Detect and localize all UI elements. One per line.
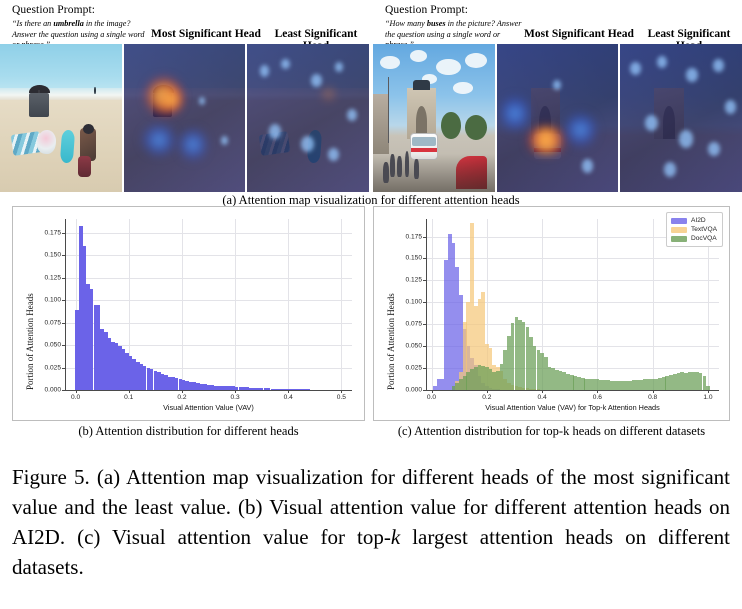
x-tick-mark bbox=[708, 390, 709, 393]
chart-c-topk-distribution: 0.0000.0250.0500.0750.1000.1250.1500.175… bbox=[373, 206, 730, 421]
x-tick-label: 0.2 bbox=[167, 394, 197, 401]
x-tick-label: 0.6 bbox=[582, 394, 612, 401]
x-tick-mark bbox=[487, 390, 488, 393]
y-tick-label: 0.150 bbox=[396, 255, 422, 262]
x-tick-mark bbox=[432, 390, 433, 393]
heat-speck-c bbox=[311, 74, 322, 87]
pedestrian-1 bbox=[390, 154, 395, 178]
heat-blob-left-bldg bbox=[502, 94, 529, 132]
most-significant-head-map-beach bbox=[124, 44, 246, 192]
panel-a-attention-maps: Question Prompt: “Is there an umbrella i… bbox=[0, 0, 742, 196]
gridline-v bbox=[653, 219, 654, 390]
x-tick-label: 0.2 bbox=[472, 394, 502, 401]
red-bag bbox=[78, 156, 91, 177]
charts-row: 0.0000.0250.0500.0750.1000.1250.1500.175… bbox=[0, 206, 742, 421]
tree-1 bbox=[441, 112, 460, 139]
gridline-v bbox=[432, 219, 433, 390]
x-axis-title: Visual Attention Value (VAV) bbox=[65, 403, 352, 412]
y-tick-label: 0.000 bbox=[35, 387, 61, 394]
cloud-1 bbox=[380, 56, 399, 69]
cloud-6 bbox=[453, 82, 472, 94]
subcaption-c: (c) Attention distribution for top-k hea… bbox=[373, 424, 730, 439]
y-axis-title: Portion of Attention Heads bbox=[25, 293, 35, 390]
subcaption-b: (b) Attention distribution for different… bbox=[12, 424, 365, 439]
arch-statue bbox=[413, 80, 430, 90]
most-significant-head-map-city bbox=[497, 44, 619, 192]
heat-blob-bus-core bbox=[533, 130, 557, 148]
lamp-post bbox=[388, 77, 389, 144]
gridline-h bbox=[65, 233, 352, 234]
x-tick-mark bbox=[182, 390, 183, 393]
y-tick-mark bbox=[423, 258, 426, 259]
x-tick-mark bbox=[76, 390, 77, 393]
y-tick-label: 0.175 bbox=[35, 229, 61, 236]
y-tick-label: 0.125 bbox=[35, 274, 61, 281]
figure-label: Figure 5. bbox=[12, 465, 90, 489]
gridline-v bbox=[597, 219, 598, 390]
heat-blob-trees bbox=[565, 112, 597, 148]
y-tick-label: 0.075 bbox=[396, 321, 422, 328]
heat-speck-g bbox=[328, 148, 339, 161]
prompt-keyword-right: buses bbox=[427, 19, 446, 28]
heat-speck-city-2 bbox=[582, 159, 593, 172]
pedestrian-2 bbox=[397, 156, 402, 177]
y-tick-mark bbox=[62, 345, 65, 346]
x-tick-label: 0.1 bbox=[114, 394, 144, 401]
figure-page: Question Prompt: “Is there an umbrella i… bbox=[0, 0, 742, 609]
least-significant-head-map-beach bbox=[247, 44, 369, 192]
x-tick-label: 0.5 bbox=[326, 394, 356, 401]
y-tick-mark bbox=[62, 233, 65, 234]
x-tick-mark bbox=[542, 390, 543, 393]
legend-swatch bbox=[671, 218, 687, 224]
y-axis-line bbox=[426, 219, 427, 390]
x-tick-label: 1.0 bbox=[693, 394, 723, 401]
y-tick-label: 0.175 bbox=[396, 233, 422, 240]
y-tick-mark bbox=[62, 278, 65, 279]
legend-swatch bbox=[671, 236, 687, 242]
y-tick-mark bbox=[423, 346, 426, 347]
chart-b-attention-distribution: 0.0000.0250.0500.0750.1000.1250.1500.175… bbox=[12, 206, 365, 421]
heat-speck-1 bbox=[199, 97, 205, 104]
beach-chairs bbox=[29, 93, 48, 117]
x-tick-mark bbox=[235, 390, 236, 393]
heat-speck-ci-d bbox=[713, 59, 724, 72]
image-row-right bbox=[373, 44, 742, 192]
x-tick-label: 0.3 bbox=[220, 394, 250, 401]
gridline-h bbox=[65, 255, 352, 256]
y-tick-label: 0.025 bbox=[35, 364, 61, 371]
heat-speck-warm bbox=[323, 88, 334, 100]
gridline-v bbox=[288, 219, 289, 390]
panel-a-right-group: Question Prompt: “How many buses in the … bbox=[373, 0, 742, 196]
gridline-h bbox=[65, 323, 352, 324]
gridline-h bbox=[65, 278, 352, 279]
y-tick-mark bbox=[62, 323, 65, 324]
heat-speck-ci-a bbox=[630, 62, 641, 75]
panel-a-left-group: Question Prompt: “Is there an umbrella i… bbox=[0, 0, 369, 196]
y-axis-line bbox=[65, 219, 66, 390]
y-tick-mark bbox=[423, 237, 426, 238]
y-tick-label: 0.100 bbox=[396, 299, 422, 306]
y-tick-label: 0.125 bbox=[396, 277, 422, 284]
gridline-v bbox=[182, 219, 183, 390]
y-tick-label: 0.050 bbox=[35, 342, 61, 349]
bus-window bbox=[412, 137, 436, 146]
cloud-2 bbox=[410, 50, 427, 62]
legend-swatch bbox=[671, 227, 687, 233]
heat-speck-city-1 bbox=[553, 80, 562, 90]
city-square-scene bbox=[373, 44, 495, 192]
x-axis-line bbox=[65, 390, 352, 391]
x-tick-mark bbox=[597, 390, 598, 393]
y-tick-label: 0.050 bbox=[396, 343, 422, 350]
heat-blob-umbrella-core bbox=[160, 88, 182, 112]
original-image-beach bbox=[0, 44, 122, 192]
x-axis-title: Visual Attention Value (VAV) for Top-k A… bbox=[426, 403, 719, 412]
x-tick-mark bbox=[129, 390, 130, 393]
column-label-most-significant-left: Most Significant Head bbox=[150, 28, 262, 40]
legend-label: TextVQA bbox=[691, 226, 717, 233]
prompt-pre-left: “Is there an bbox=[12, 19, 53, 28]
heat-speck-ci-h bbox=[725, 100, 736, 113]
tree-2 bbox=[465, 115, 487, 140]
y-tick-mark bbox=[62, 368, 65, 369]
x-tick-label: 0.0 bbox=[61, 394, 91, 401]
figure-caption-italic-k: k bbox=[391, 525, 400, 549]
heat-speck-ci-f bbox=[679, 130, 694, 148]
heat-speck-h bbox=[347, 109, 357, 121]
heatmap-base-most bbox=[124, 44, 246, 192]
legend-label: DocVQA bbox=[691, 235, 717, 242]
cloud-3 bbox=[436, 59, 460, 75]
legend-item[interactable]: DocVQA bbox=[671, 234, 717, 243]
y-tick-label: 0.000 bbox=[396, 387, 422, 394]
x-tick-label: 0.4 bbox=[527, 394, 557, 401]
y-tick-mark bbox=[423, 280, 426, 281]
heat-speck-b bbox=[281, 59, 290, 69]
left-building bbox=[373, 94, 389, 153]
x-tick-mark bbox=[653, 390, 654, 393]
heat-speck-2 bbox=[221, 136, 228, 145]
legend-item[interactable]: AI2D bbox=[671, 216, 717, 225]
y-tick-label: 0.150 bbox=[35, 252, 61, 259]
y-tick-label: 0.075 bbox=[35, 319, 61, 326]
x-tick-label: 0.0 bbox=[417, 394, 447, 401]
heat-speck-ci-b bbox=[657, 56, 667, 68]
distant-person bbox=[94, 87, 96, 94]
image-row-left bbox=[0, 44, 369, 192]
y-tick-mark bbox=[423, 324, 426, 325]
question-prompt-title-right: Question Prompt: bbox=[385, 4, 468, 16]
x-tick-mark bbox=[288, 390, 289, 393]
y-axis-title: Portion of Attention Heads bbox=[386, 293, 396, 390]
x-tick-mark bbox=[341, 390, 342, 393]
sun-hat bbox=[83, 124, 94, 134]
beach-scene bbox=[0, 44, 122, 192]
y-tick-label: 0.025 bbox=[396, 365, 422, 372]
question-prompt-title-left: Question Prompt: bbox=[12, 4, 95, 16]
y-tick-mark bbox=[62, 300, 65, 301]
y-tick-mark bbox=[423, 302, 426, 303]
x-tick-label: 0.8 bbox=[638, 394, 668, 401]
gridline-v bbox=[235, 219, 236, 390]
triumphal-arch bbox=[407, 88, 436, 138]
gridline-h bbox=[65, 300, 352, 301]
y-tick-mark bbox=[62, 255, 65, 256]
x-tick-label: 0.4 bbox=[273, 394, 303, 401]
y-tick-mark bbox=[423, 368, 426, 369]
pedestrian-5 bbox=[383, 162, 389, 183]
least-significant-head-map-city bbox=[620, 44, 742, 192]
heat-blob-towel bbox=[141, 125, 178, 155]
cloud-4 bbox=[465, 53, 487, 68]
bus-stripe bbox=[411, 148, 438, 152]
legend-item[interactable]: TextVQA bbox=[671, 225, 717, 234]
y-tick-mark bbox=[423, 390, 426, 391]
chart-legend: AI2DTextVQADocVQA bbox=[666, 212, 723, 247]
x-axis-line bbox=[426, 390, 719, 391]
column-label-most-significant-right: Most Significant Head bbox=[523, 28, 635, 40]
prompt-pre-right: “How many bbox=[385, 19, 427, 28]
legend-label: AI2D bbox=[691, 217, 706, 224]
gridline-v bbox=[341, 219, 342, 390]
y-tick-label: 0.100 bbox=[35, 297, 61, 304]
original-image-city bbox=[373, 44, 495, 192]
pedestrian-4 bbox=[414, 159, 419, 178]
prompt-keyword-left: umbrella bbox=[53, 19, 83, 28]
heat-speck-a bbox=[260, 65, 270, 77]
figure-caption: Figure 5. (a) Attention map visualizatio… bbox=[12, 462, 730, 582]
y-tick-mark bbox=[62, 390, 65, 391]
